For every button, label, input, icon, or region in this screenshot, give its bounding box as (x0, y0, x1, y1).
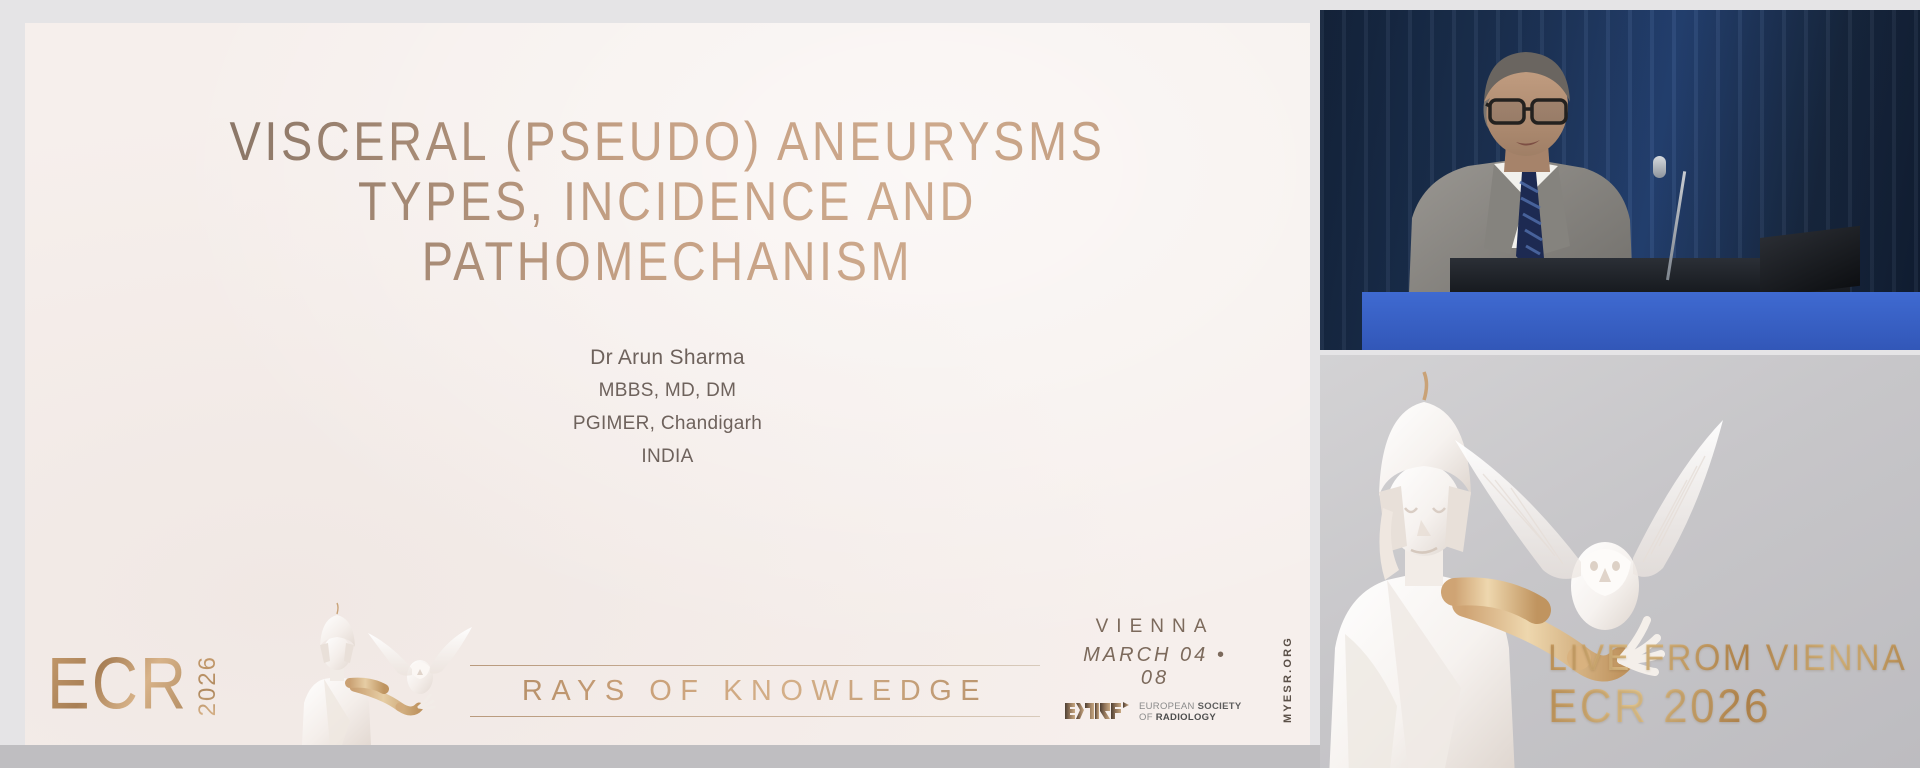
ecr-logo-year: 2026 (194, 655, 222, 716)
microphone-head-icon (1653, 156, 1666, 178)
author-name: Dr Arun Sharma (25, 341, 1310, 374)
screen-root: VISCERAL (PSEUDO) ANEURYSMS TYPES, INCID… (0, 0, 1920, 768)
brand-panel: LIVE FROM VIENNA ECR 2026 (1320, 355, 1920, 768)
slide-footer: ECR 2026 (25, 595, 1310, 745)
myesr-website-label: MYESR.ORG (1282, 636, 1294, 723)
vienna-city-label: VIENNA (1065, 616, 1245, 638)
author-institution: PGIMER, Chandigarh (25, 407, 1310, 440)
podium-front-panel (1362, 292, 1920, 350)
title-line-3: PATHOMECHANISM (25, 226, 1310, 297)
author-degrees: MBBS, MD, DM (25, 374, 1310, 407)
esr-wordmark: EUROPEAN SOCIETY OF RADIOLOGY (1139, 701, 1241, 723)
esr-logomark-icon (1065, 701, 1133, 723)
brand-text-block: LIVE FROM VIENNA ECR 2026 (1548, 641, 1907, 734)
confidence-monitor (1760, 226, 1860, 298)
rays-of-knowledge-text: RAYS OF KNOWLEDGE (470, 666, 1040, 716)
esr-line-2: OF RADIOLOGY (1139, 712, 1241, 723)
athena-owl-motif-icon (280, 595, 480, 745)
author-block: Dr Arun Sharma MBBS, MD, DM PGIMER, Chan… (25, 341, 1310, 473)
ecr-logo: ECR 2026 (47, 655, 222, 719)
rays-rule-bottom (470, 716, 1040, 717)
vienna-info-block: VIENNA MARCH 04 • 08 (1065, 616, 1245, 723)
brand-line-live-from-vienna: LIVE FROM VIENNA (1548, 637, 1907, 680)
author-country: INDIA (25, 440, 1310, 473)
esr-logo: EUROPEAN SOCIETY OF RADIOLOGY (1065, 701, 1245, 723)
brand-line-ecr-2026: ECR 2026 (1548, 680, 1907, 734)
presentation-slide: VISCERAL (PSEUDO) ANEURYSMS TYPES, INCID… (25, 23, 1310, 745)
ecr-logo-word: ECR (47, 649, 188, 719)
slide-title: VISCERAL (PSEUDO) ANEURYSMS TYPES, INCID… (25, 111, 1310, 291)
rays-of-knowledge-block: RAYS OF KNOWLEDGE (470, 665, 1040, 717)
live-speaker-video[interactable] (1320, 10, 1920, 350)
vienna-dates-label: MARCH 04 • 08 (1065, 644, 1245, 690)
esr-line-1: EUROPEAN SOCIETY (1139, 701, 1241, 712)
bottom-filler-bar (0, 745, 1320, 768)
